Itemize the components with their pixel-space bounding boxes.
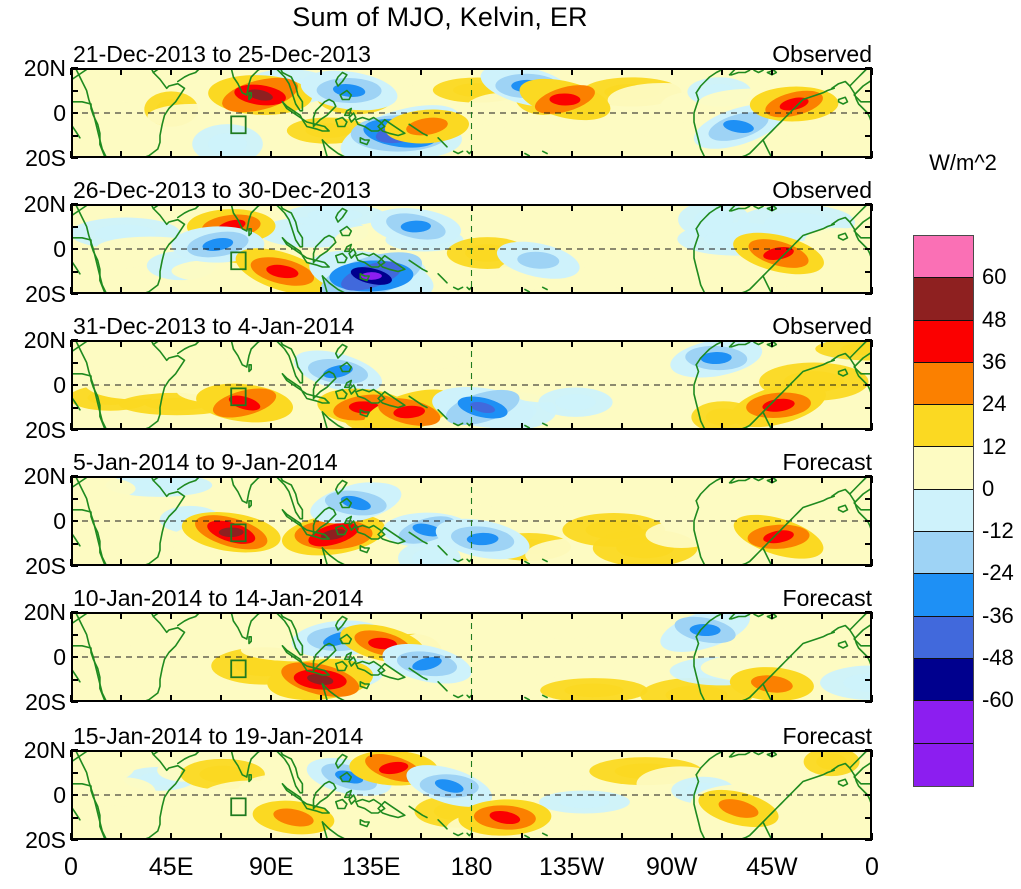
x-tick-mark: [471, 612, 473, 619]
panel-title-row-2: 26-Dec-2013 to 30-Dec-2013Observed: [73, 177, 872, 203]
x-tick-mark: [671, 204, 673, 211]
y-tick-mark: [71, 475, 78, 477]
colorbar-band-2: [914, 321, 973, 363]
x-tick-mark: [420, 423, 422, 430]
panel-status-label: Observed: [772, 41, 872, 67]
x-tick-mark: [621, 68, 623, 75]
x-tick-mark: [571, 423, 573, 430]
map-panel-3: [71, 340, 872, 430]
y-tick-mark: [865, 271, 872, 273]
x-tick-mark: [521, 833, 523, 840]
x-tick-mark: [471, 204, 473, 211]
panel-status-label: Forecast: [783, 449, 872, 475]
map-panel-5: [71, 612, 872, 702]
x-tick-mark: [120, 423, 122, 430]
y-tick-mark: [71, 520, 78, 522]
y-tick-mark: [71, 817, 78, 819]
y-tick-mark: [865, 362, 872, 364]
y-tick-mark: [71, 543, 78, 545]
y-tick-mark: [71, 67, 78, 69]
y-tick-mark: [71, 429, 78, 431]
x-tick-mark: [270, 204, 272, 211]
x-tick-mark: [120, 559, 122, 566]
y-tick-20N: 20N: [24, 465, 66, 488]
x-tick-mark: [270, 476, 272, 483]
panel-title-row-5: 10-Jan-2014 to 14-Jan-2014Forecast: [73, 585, 872, 611]
x-tick-mark: [571, 559, 573, 566]
x-tick-mark: [370, 423, 372, 430]
x-tick-mark: [270, 340, 272, 347]
panel-title-row-4: 5-Jan-2014 to 9-Jan-2014Forecast: [73, 449, 872, 475]
x-tick-mark: [621, 423, 623, 430]
y-tick-mark: [71, 407, 78, 409]
y-tick-mark: [865, 226, 872, 228]
x-tick-mark: [320, 340, 322, 347]
x-tick-mark: [370, 287, 372, 294]
x-tick-mark: [170, 151, 172, 158]
y-tick-mark: [865, 817, 872, 819]
y-tick-mark: [865, 135, 872, 137]
x-tick-mark: [571, 612, 573, 619]
x-axis-tick-label: 0: [865, 852, 879, 882]
x-tick-mark: [320, 695, 322, 702]
x-tick-mark: [471, 750, 473, 757]
x-axis-tick-label: 45W: [746, 852, 797, 882]
y-tick-mark: [71, 339, 78, 341]
x-tick-mark: [471, 695, 473, 702]
x-axis-tick-label: 0: [64, 852, 78, 882]
x-tick-mark: [170, 287, 172, 294]
y-tick-mark: [71, 794, 78, 796]
x-tick-mark: [521, 695, 523, 702]
colorbar-label--60: -60: [982, 689, 1014, 711]
x-tick-mark: [521, 204, 523, 211]
y-tick-mark: [865, 701, 872, 703]
x-tick-mark: [671, 833, 673, 840]
x-tick-mark: [120, 68, 122, 75]
x-tick-mark: [270, 151, 272, 158]
x-tick-mark: [621, 750, 623, 757]
y-tick-mark: [865, 67, 872, 69]
map-panel-6: [71, 750, 872, 840]
y-tick-mark: [71, 293, 78, 295]
x-tick-mark: [821, 476, 823, 483]
x-tick-mark: [70, 750, 72, 757]
x-tick-mark: [270, 612, 272, 619]
y-tick-20S: 20S: [25, 419, 66, 442]
y-tick-mark: [865, 498, 872, 500]
y-tick-0: 0: [53, 510, 66, 533]
y-tick-20N: 20N: [24, 739, 66, 762]
x-tick-mark: [220, 612, 222, 619]
x-tick-mark: [821, 340, 823, 347]
page-title: Sum of MJO, Kelvin, ER: [0, 2, 880, 33]
x-axis-tick-label: 135W: [539, 852, 604, 882]
x-tick-mark: [821, 695, 823, 702]
y-tick-mark: [71, 271, 78, 273]
x-tick-mark: [771, 68, 773, 75]
x-tick-mark: [170, 750, 172, 757]
y-tick-mark: [71, 203, 78, 205]
x-tick-mark: [320, 423, 322, 430]
x-tick-mark: [571, 695, 573, 702]
map-panel-1: [71, 68, 872, 158]
panel-frame: [71, 68, 872, 158]
x-tick-mark: [721, 204, 723, 211]
x-tick-mark: [621, 204, 623, 211]
x-tick-mark: [420, 612, 422, 619]
panel-date-range: 21-Dec-2013 to 25-Dec-2013: [73, 41, 371, 67]
y-tick-20N: 20N: [24, 57, 66, 80]
x-tick-mark: [671, 476, 673, 483]
panel-status-label: Observed: [772, 313, 872, 339]
x-tick-mark: [120, 287, 122, 294]
panel-frame: [71, 750, 872, 840]
y-tick-mark: [865, 293, 872, 295]
y-tick-0: 0: [53, 646, 66, 669]
x-tick-mark: [370, 151, 372, 158]
x-tick-mark: [671, 695, 673, 702]
x-tick-mark: [771, 340, 773, 347]
x-tick-mark: [721, 833, 723, 840]
x-tick-mark: [721, 340, 723, 347]
y-axis-labels-1: 20N020S: [0, 68, 66, 158]
y-tick-mark: [865, 384, 872, 386]
x-tick-mark: [70, 476, 72, 483]
colorbar-units-label: W/m^2: [905, 150, 1021, 176]
x-tick-mark: [671, 559, 673, 566]
x-tick-mark: [420, 287, 422, 294]
x-tick-mark: [420, 833, 422, 840]
y-tick-mark: [865, 679, 872, 681]
x-tick-mark: [70, 204, 72, 211]
x-axis-tick-label: 90E: [249, 852, 293, 882]
x-tick-mark: [471, 151, 473, 158]
x-tick-mark: [370, 695, 372, 702]
y-axis-labels-5: 20N020S: [0, 612, 66, 702]
x-tick-mark: [370, 750, 372, 757]
y-axis-labels-2: 20N020S: [0, 204, 66, 294]
x-tick-mark: [170, 695, 172, 702]
y-tick-20S: 20S: [25, 691, 66, 714]
colorbar-label-12: 12: [982, 436, 1006, 458]
y-tick-mark: [71, 112, 78, 114]
x-tick-mark: [471, 68, 473, 75]
x-tick-mark: [471, 423, 473, 430]
x-tick-mark: [671, 340, 673, 347]
colorbar-band-9: [914, 617, 973, 659]
x-tick-mark: [671, 68, 673, 75]
x-tick-mark: [370, 833, 372, 840]
x-tick-mark: [370, 612, 372, 619]
panel-date-range: 15-Jan-2014 to 19-Jan-2014: [73, 723, 363, 749]
panel-title-row-6: 15-Jan-2014 to 19-Jan-2014Forecast: [73, 723, 872, 749]
x-tick-mark: [771, 423, 773, 430]
map-panel-4: [71, 476, 872, 566]
y-axis-labels-4: 20N020S: [0, 476, 66, 566]
x-tick-mark: [871, 612, 873, 619]
panel-title-row-3: 31-Dec-2013 to 4-Jan-2014Observed: [73, 313, 872, 339]
y-tick-mark: [71, 611, 78, 613]
x-tick-mark: [220, 287, 222, 294]
colorbar-band-6: [914, 490, 973, 532]
x-tick-mark: [871, 476, 873, 483]
colorbar-tick-labels: 60483624120-12-24-36-48-60: [982, 235, 1021, 785]
x-tick-mark: [721, 476, 723, 483]
x-tick-mark: [771, 833, 773, 840]
x-tick-mark: [170, 833, 172, 840]
x-tick-mark: [771, 204, 773, 211]
x-tick-mark: [270, 695, 272, 702]
y-tick-mark: [865, 407, 872, 409]
x-tick-mark: [220, 204, 222, 211]
x-tick-mark: [721, 423, 723, 430]
x-tick-mark: [120, 340, 122, 347]
colorbar-band-5: [914, 447, 973, 489]
x-tick-mark: [320, 151, 322, 158]
x-tick-mark: [621, 695, 623, 702]
panel-date-range: 26-Dec-2013 to 30-Dec-2013: [73, 177, 371, 203]
y-tick-mark: [865, 429, 872, 431]
x-tick-mark: [521, 612, 523, 619]
x-tick-mark: [521, 287, 523, 294]
x-tick-mark: [420, 476, 422, 483]
y-tick-mark: [865, 248, 872, 250]
colorbar-band-3: [914, 363, 973, 405]
x-tick-mark: [220, 151, 222, 158]
x-tick-mark: [821, 151, 823, 158]
x-tick-mark: [521, 476, 523, 483]
x-tick-mark: [821, 750, 823, 757]
x-tick-mark: [270, 287, 272, 294]
colorbar-label-48: 48: [982, 309, 1006, 331]
x-tick-mark: [220, 423, 222, 430]
y-tick-mark: [71, 701, 78, 703]
x-tick-mark: [120, 833, 122, 840]
y-tick-mark: [865, 157, 872, 159]
x-tick-mark: [571, 476, 573, 483]
y-tick-mark: [71, 565, 78, 567]
x-tick-mark: [621, 612, 623, 619]
x-tick-mark: [571, 68, 573, 75]
y-tick-mark: [865, 90, 872, 92]
x-tick-mark: [521, 559, 523, 566]
colorbar-label--36: -36: [982, 605, 1014, 627]
x-tick-mark: [120, 204, 122, 211]
colorbar-band-4: [914, 405, 973, 447]
x-tick-mark: [821, 287, 823, 294]
x-tick-mark: [320, 750, 322, 757]
x-tick-mark: [170, 68, 172, 75]
x-tick-mark: [70, 68, 72, 75]
x-tick-mark: [420, 695, 422, 702]
colorbar-label-60: 60: [982, 266, 1006, 288]
x-tick-mark: [721, 68, 723, 75]
x-tick-mark: [721, 612, 723, 619]
x-tick-mark: [220, 559, 222, 566]
colorbar-label-36: 36: [982, 351, 1006, 373]
x-tick-mark: [420, 340, 422, 347]
x-axis-tick-label: 180: [451, 852, 493, 882]
panel-status-label: Forecast: [783, 723, 872, 749]
x-tick-mark: [370, 68, 372, 75]
x-axis-labels: 045E90E135E180135W90W45W0: [0, 852, 1021, 884]
y-tick-mark: [865, 543, 872, 545]
colorbar-band-10: [914, 659, 973, 701]
y-tick-mark: [71, 839, 78, 841]
x-tick-mark: [320, 612, 322, 619]
x-axis-tick-label: 90W: [646, 852, 697, 882]
x-tick-mark: [170, 476, 172, 483]
y-tick-mark: [865, 565, 872, 567]
y-tick-20S: 20S: [25, 555, 66, 578]
panel-date-range: 5-Jan-2014 to 9-Jan-2014: [73, 449, 338, 475]
x-tick-mark: [571, 204, 573, 211]
x-tick-mark: [471, 287, 473, 294]
panel-frame: [71, 476, 872, 566]
colorbar-band-1: [914, 278, 973, 320]
y-tick-mark: [71, 498, 78, 500]
x-tick-mark: [771, 695, 773, 702]
x-tick-mark: [471, 476, 473, 483]
colorbar-band-11: [914, 701, 973, 743]
x-tick-mark: [320, 476, 322, 483]
x-tick-mark: [671, 287, 673, 294]
y-axis-labels-6: 20N020S: [0, 750, 66, 840]
y-tick-mark: [71, 248, 78, 250]
x-tick-mark: [170, 423, 172, 430]
y-tick-mark: [865, 339, 872, 341]
x-tick-mark: [70, 612, 72, 619]
y-tick-mark: [865, 203, 872, 205]
y-tick-mark: [865, 772, 872, 774]
x-tick-mark: [621, 476, 623, 483]
y-tick-mark: [865, 475, 872, 477]
x-tick-mark: [521, 750, 523, 757]
y-tick-mark: [71, 634, 78, 636]
x-tick-mark: [521, 423, 523, 430]
y-tick-mark: [865, 839, 872, 841]
x-tick-mark: [721, 287, 723, 294]
panel-frame: [71, 340, 872, 430]
y-tick-mark: [71, 679, 78, 681]
x-tick-mark: [671, 612, 673, 619]
y-tick-mark: [865, 749, 872, 751]
x-tick-mark: [320, 833, 322, 840]
colorbar-band-7: [914, 532, 973, 574]
x-tick-mark: [220, 833, 222, 840]
x-tick-mark: [871, 750, 873, 757]
x-tick-mark: [471, 833, 473, 840]
y-tick-20S: 20S: [25, 283, 66, 306]
x-tick-mark: [220, 68, 222, 75]
x-tick-mark: [420, 204, 422, 211]
x-tick-mark: [370, 559, 372, 566]
colorbar-label-24: 24: [982, 393, 1006, 415]
panel-status-label: Observed: [772, 177, 872, 203]
x-tick-mark: [671, 151, 673, 158]
y-tick-mark: [865, 112, 872, 114]
colorbar-label--12: -12: [982, 520, 1014, 542]
colorbar-label-0: 0: [982, 478, 994, 500]
x-tick-mark: [320, 287, 322, 294]
x-tick-mark: [170, 559, 172, 566]
y-tick-0: 0: [53, 374, 66, 397]
x-tick-mark: [120, 695, 122, 702]
x-tick-mark: [771, 559, 773, 566]
y-tick-0: 0: [53, 784, 66, 807]
x-tick-mark: [120, 750, 122, 757]
x-tick-mark: [621, 559, 623, 566]
x-tick-mark: [771, 287, 773, 294]
y-tick-20N: 20N: [24, 601, 66, 624]
x-tick-mark: [621, 340, 623, 347]
x-tick-mark: [871, 204, 873, 211]
y-tick-mark: [71, 772, 78, 774]
x-tick-mark: [771, 151, 773, 158]
x-tick-mark: [70, 340, 72, 347]
x-tick-mark: [721, 151, 723, 158]
map-panel-2: [71, 204, 872, 294]
x-tick-mark: [270, 559, 272, 566]
x-axis-tick-label: 45E: [149, 852, 193, 882]
y-tick-20S: 20S: [25, 829, 66, 852]
x-tick-mark: [120, 476, 122, 483]
x-tick-mark: [320, 68, 322, 75]
x-tick-mark: [420, 750, 422, 757]
x-tick-mark: [771, 476, 773, 483]
y-tick-mark: [71, 157, 78, 159]
panel-frame: [71, 612, 872, 702]
panel-title-row-1: 21-Dec-2013 to 25-Dec-2013Observed: [73, 41, 872, 67]
y-tick-mark: [865, 634, 872, 636]
x-tick-mark: [571, 340, 573, 347]
x-tick-mark: [821, 204, 823, 211]
x-tick-mark: [821, 559, 823, 566]
x-tick-mark: [571, 833, 573, 840]
colorbar-band-8: [914, 574, 973, 616]
x-tick-mark: [471, 340, 473, 347]
x-tick-mark: [871, 340, 873, 347]
x-tick-mark: [821, 423, 823, 430]
y-tick-mark: [71, 226, 78, 228]
y-tick-mark: [71, 90, 78, 92]
x-tick-mark: [771, 612, 773, 619]
x-tick-mark: [120, 612, 122, 619]
x-tick-mark: [370, 476, 372, 483]
x-tick-mark: [220, 340, 222, 347]
figure: Sum of MJO, Kelvin, ER 21-Dec-2013 to 25…: [0, 0, 1021, 889]
x-tick-mark: [220, 695, 222, 702]
x-tick-mark: [220, 476, 222, 483]
x-tick-mark: [621, 833, 623, 840]
x-tick-mark: [571, 750, 573, 757]
panel-frame: [71, 204, 872, 294]
x-tick-mark: [270, 68, 272, 75]
y-tick-mark: [865, 656, 872, 658]
x-tick-mark: [571, 151, 573, 158]
y-tick-mark: [71, 135, 78, 137]
y-axis-labels-3: 20N020S: [0, 340, 66, 430]
colorbar-label--24: -24: [982, 562, 1014, 584]
y-tick-mark: [865, 794, 872, 796]
x-tick-mark: [420, 68, 422, 75]
x-tick-mark: [471, 559, 473, 566]
x-tick-mark: [120, 151, 122, 158]
x-tick-mark: [821, 833, 823, 840]
y-tick-20S: 20S: [25, 147, 66, 170]
x-tick-mark: [170, 340, 172, 347]
